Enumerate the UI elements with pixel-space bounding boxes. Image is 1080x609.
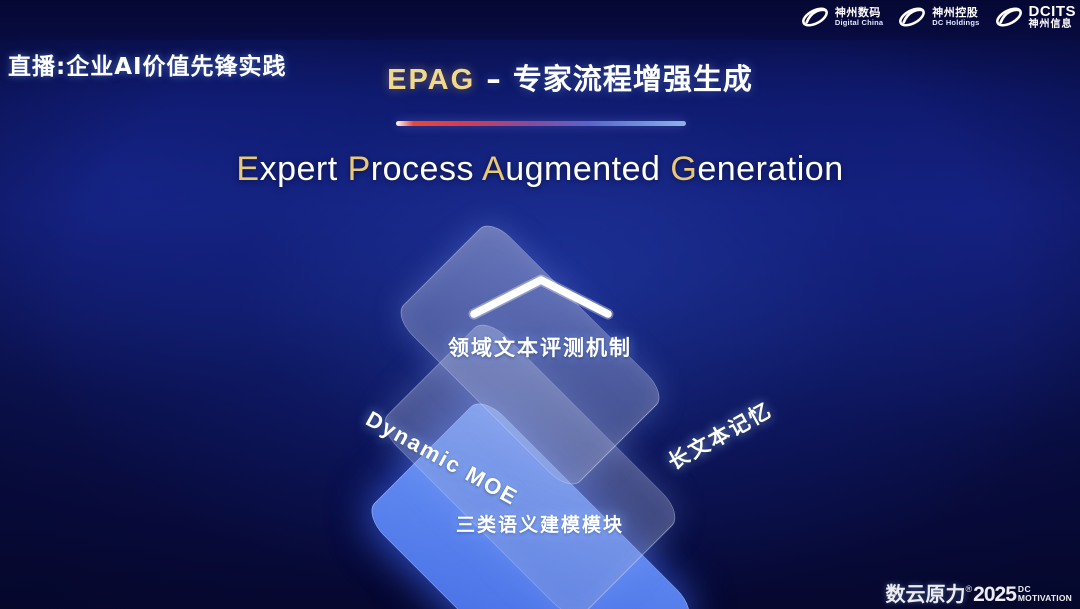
partner-label: 神州数码 Digital China (835, 7, 883, 26)
brand-name-cn: 数云原力 (886, 584, 966, 604)
layer-bottom-label: 三类语义建模模块 (0, 510, 1080, 537)
swoosh-icon (994, 4, 1024, 30)
subtitle-word1-rest: xpert (260, 150, 338, 188)
partner-name-en: DCITS (1029, 4, 1077, 20)
layer-top-label: 领域文本评测机制 (0, 332, 1080, 362)
partner-label: 神州控股 DC Holdings (932, 7, 979, 26)
subtitle-word3-cap: A (482, 150, 505, 188)
subtitle-word3-rest: ugmented (505, 150, 660, 188)
brand-dc-line2: MOTIVATION (1018, 594, 1072, 603)
brand-logo-bottom-right: 数云原力 ® 2025 DC MOTIVATION (886, 584, 1072, 605)
title-dash: – (475, 62, 513, 96)
slide-canvas: 数云原力 ® 2025 DC MOTIVATION 直播:企业AI价值先锋实践 … (0, 0, 1080, 609)
subtitle-word4-rest: eneration (697, 150, 843, 188)
title-acronym: EPAG (387, 64, 475, 96)
layer-middle-right-label: 长文本记忆 (662, 394, 777, 476)
subtitle-word2-cap: P (348, 150, 371, 188)
chevron-up-icon (466, 272, 616, 320)
subtitle-word4-cap: G (670, 150, 697, 188)
partner-logo-group: 神州数码 Digital China 神州控股 DC Holdings DCIT… (800, 4, 1076, 30)
partner-name-en: Digital China (835, 19, 883, 27)
partner-logo-dc-holdings: 神州控股 DC Holdings (897, 4, 979, 30)
swoosh-icon (897, 4, 927, 30)
subtitle-word1-cap: E (236, 150, 259, 188)
brand-year: 2025 (973, 584, 1016, 605)
livestream-subtitle: 直播:企业AI价值先锋实践 (8, 47, 287, 81)
title-chinese: 专家流程增强生成 (513, 62, 753, 96)
partner-name-en: DC Holdings (932, 19, 979, 27)
partner-logo-digital-china: 神州数码 Digital China (800, 4, 883, 30)
partner-logo-dcits: DCITS 神州信息 (994, 4, 1077, 30)
slide-subtitle: Expert Process Augmented Generation (0, 150, 1080, 189)
subtitle-word2-rest: rocess (371, 150, 474, 188)
partner-name-cn: 神州信息 (1029, 20, 1077, 31)
brand-dc-motivation: DC MOTIVATION (1018, 585, 1072, 602)
swoosh-icon (800, 4, 830, 30)
brand-registered-mark: ® (966, 584, 973, 594)
gradient-divider (396, 121, 686, 126)
partner-label: DCITS 神州信息 (1029, 4, 1077, 30)
